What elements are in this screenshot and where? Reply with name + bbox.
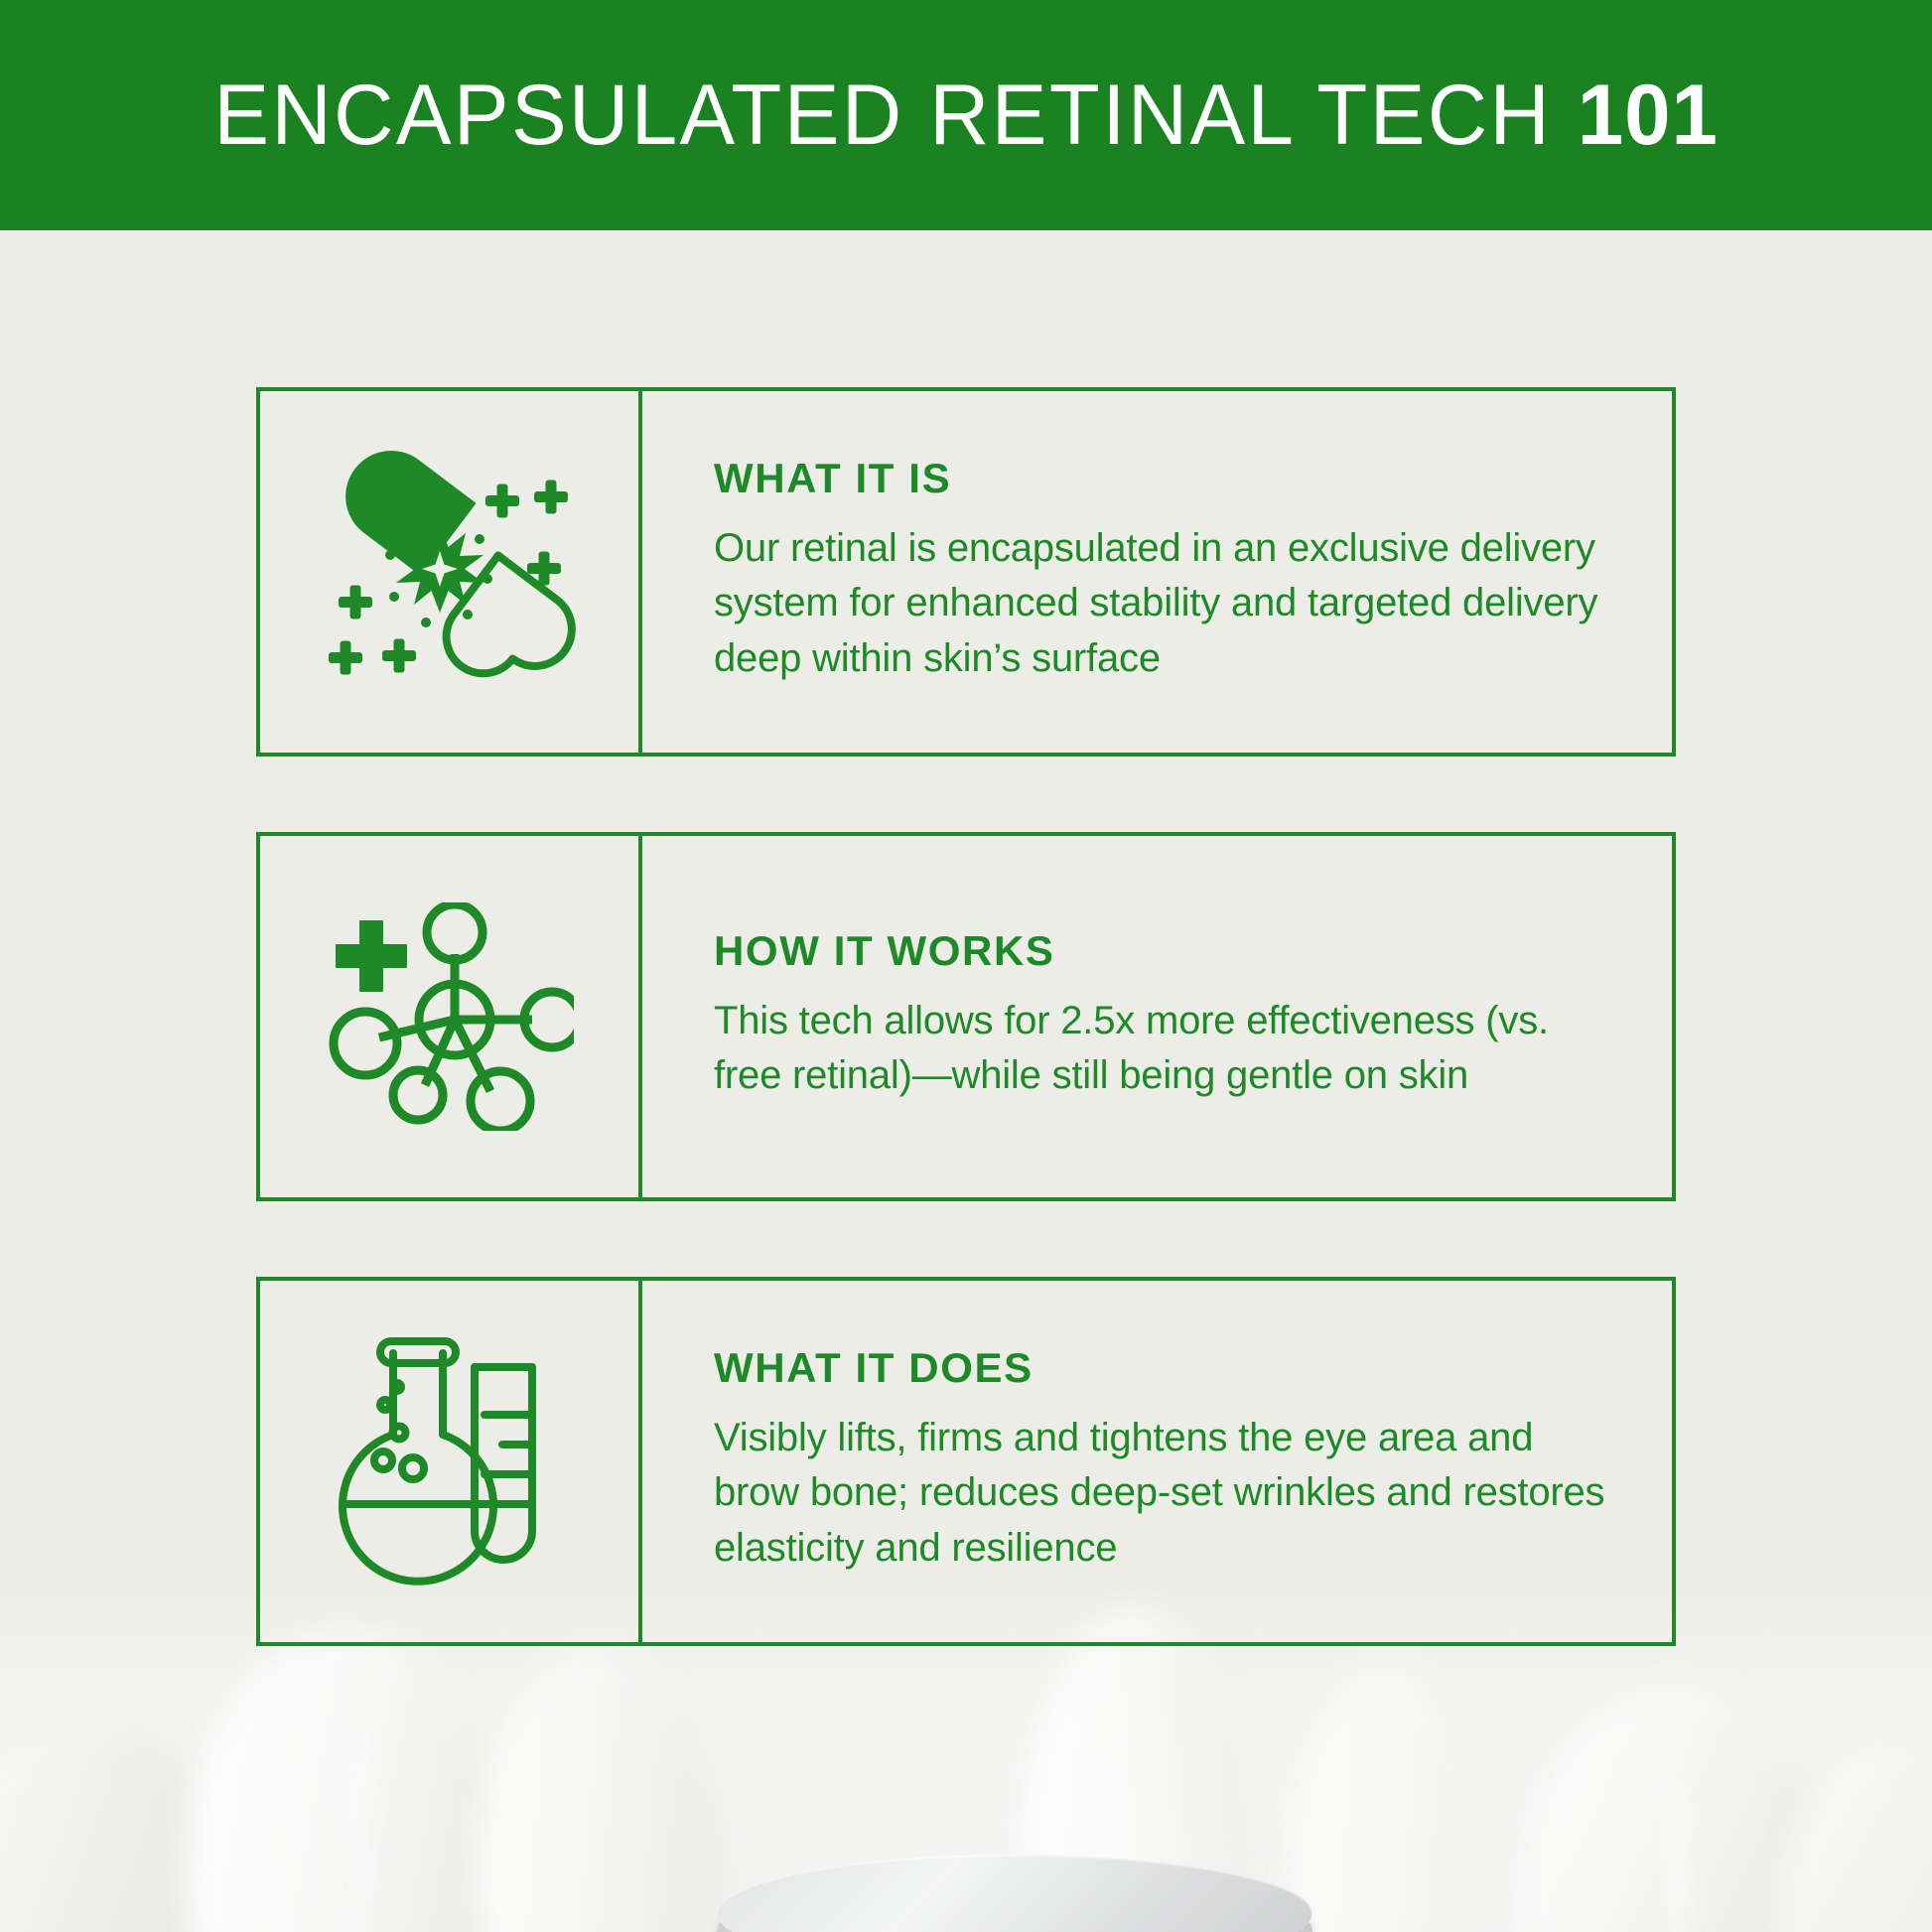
text-pane-what-it-does: WHAT IT DOES Visibly lifts, firms and ti… — [642, 1281, 1672, 1642]
card-body: This tech allows for 2.5x more effective… — [714, 994, 1616, 1103]
page-title: ENCAPSULATED RETINAL TECH 101 — [213, 72, 1718, 158]
card-what-it-is: WHAT IT IS Our retinal is encapsulated i… — [256, 387, 1676, 757]
flask-test-tube-icon — [336, 1337, 564, 1586]
card-what-it-does: WHAT IT DOES Visibly lifts, firms and ti… — [256, 1277, 1676, 1646]
card-body: Visibly lifts, firms and tightens the ey… — [714, 1411, 1616, 1576]
card-list: WHAT IT IS Our retinal is encapsulated i… — [256, 387, 1676, 1646]
header-banner: ENCAPSULATED RETINAL TECH 101 — [0, 0, 1932, 230]
icon-pane-what-it-is — [260, 391, 642, 753]
bottle-blur-3 — [477, 1646, 725, 1932]
infographic-page: ENCAPSULATED RETINAL TECH 101 — [0, 0, 1932, 1932]
capsule-sparkle-icon — [321, 448, 579, 696]
card-heading: HOW IT WORKS — [714, 930, 1616, 972]
molecule-network-icon — [326, 902, 574, 1131]
icon-pane-how-it-works — [260, 836, 642, 1197]
text-pane-what-it-is: WHAT IT IS Our retinal is encapsulated i… — [642, 391, 1672, 753]
card-body: Our retinal is encapsulated in an exclus… — [714, 521, 1616, 686]
page-title-number: 101 — [1578, 68, 1719, 163]
bottle-blur-2 — [184, 1630, 511, 1932]
text-pane-how-it-works: HOW IT WORKS This tech allows for 2.5x m… — [642, 836, 1672, 1197]
bottle-blur-5 — [1291, 1663, 1489, 1932]
icon-pane-what-it-does — [260, 1281, 642, 1642]
card-how-it-works: HOW IT WORKS This tech allows for 2.5x m… — [256, 832, 1676, 1201]
card-heading: WHAT IT IS — [714, 458, 1616, 499]
card-heading: WHAT IT DOES — [714, 1347, 1616, 1389]
page-title-main: ENCAPSULATED RETINAL TECH — [213, 68, 1577, 163]
